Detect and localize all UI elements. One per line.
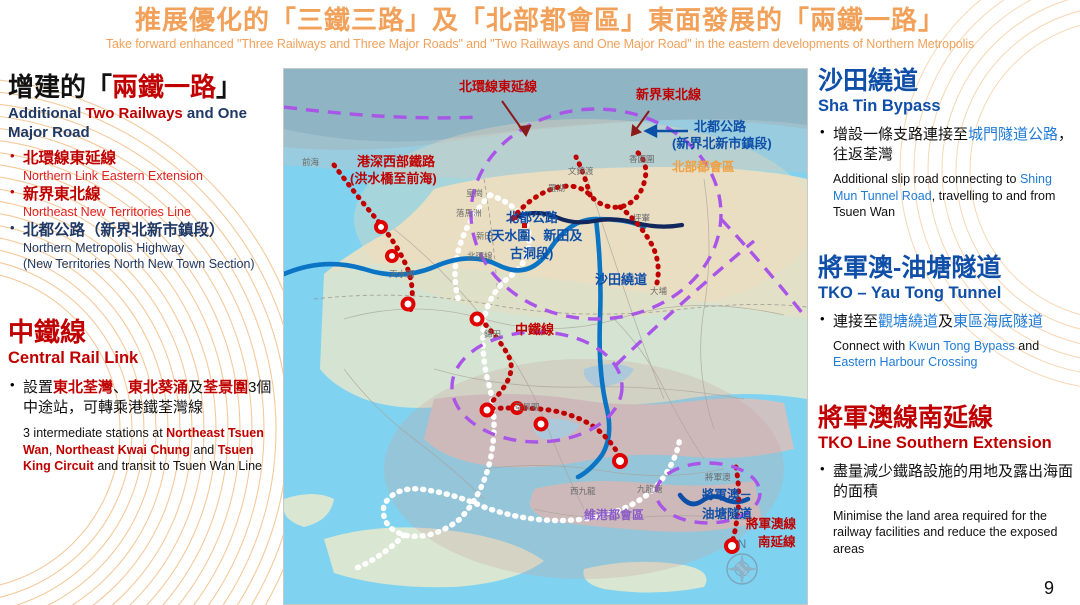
tyt-bullet-zh: 連接至觀塘繞道及東區海底隧道: [833, 312, 1076, 332]
crl-zh-3: 東北葵涌: [128, 379, 188, 396]
crl-paragraph-en: 3 intermediate stations at Northeast Tsu…: [23, 425, 280, 475]
list-item: 設置東北荃灣、東北葵涌及荃景圍3個中途站，可轉乘港鐵荃灣線 3 intermed…: [8, 378, 280, 475]
right-block-tko-yau-tong: 將軍澳-油塘隧道 TKO – Yau Tong Tunnel 連接至觀塘繞道及東…: [818, 253, 1076, 371]
map-route-label: (新界北新市鎮段): [672, 136, 772, 151]
map-place-label: 北環線: [467, 251, 493, 261]
map-place-label: 天水圍: [389, 269, 415, 279]
map-place-label: 羅湖: [548, 183, 565, 193]
tko-south-list: 盡量減少鐵路設施的用地及露出海面的面積 Minimise the land ar…: [818, 462, 1076, 558]
title-chinese: 推展優化的「三鐵三路」及「北部都會區」東面發展的「兩鐵一路」: [0, 4, 1080, 36]
tyt-en-2: and: [1015, 339, 1039, 353]
map-route-label: 港深西部鐵路: [357, 154, 436, 169]
sha-tin-bypass-title-zh: 沙田繞道: [818, 66, 1076, 96]
map-place-label: 落馬洲: [456, 208, 482, 218]
crl-en-2: ,: [49, 443, 56, 457]
map-route-label: 油塘隧道: [702, 506, 753, 521]
page-number: 9: [1044, 578, 1054, 599]
map-route-label: 沙田繞道: [595, 272, 647, 287]
map-place-label: 坪輋: [633, 213, 651, 223]
map-svg: N 前海皇崗落馬洲文錦渡羅湖香園圍天水圍新田北環線錦田大埔坪輋荃景圍西九龍九龍塘…: [284, 69, 807, 604]
map-place-label: 將軍澳: [705, 472, 731, 482]
map-place-label: 皇崗: [466, 188, 483, 198]
map-place-label: 前海: [302, 157, 320, 167]
crl-en-4: and: [190, 443, 218, 457]
tko-yau-tong-title-zh: 將軍澳-油塘隧道: [818, 253, 1076, 283]
left-block1-heading-en: Additional Two Railways and One Major Ro…: [8, 104, 280, 142]
right-text-column: 沙田繞道 Sha Tin Bypass 增設一條支路連接至城門隧道公路，往返荃灣…: [818, 66, 1076, 559]
crl-bullet-zh: 設置東北荃灣、東北葵涌及荃景圍3個中途站，可轉乘港鐵荃灣線: [23, 378, 280, 418]
stb-bullet-zh: 增設一條支路連接至城門隧道公路，往返荃灣: [833, 125, 1076, 165]
map-figure: N 前海皇崗落馬洲文錦渡羅湖香園圍天水圍新田北環線錦田大埔坪輋荃景圍西九龍九龍塘…: [283, 68, 808, 605]
map-place-label: 文錦渡: [568, 166, 594, 176]
left-block-two-railways: 增建的「兩鐵一路」 Additional Two Railways and On…: [8, 72, 280, 272]
map-route-label: (洪水橋至前海): [350, 171, 437, 186]
item-label-en: Northern Metropolis Highway: [23, 240, 280, 256]
sha-tin-bypass-title-en: Sha Tin Bypass: [818, 96, 1076, 117]
compass-north-label: N: [738, 537, 747, 551]
right-block-sha-tin-bypass: 沙田繞道 Sha Tin Bypass 增設一條支路連接至城門隧道公路，往返荃灣…: [818, 66, 1076, 221]
left-block1-heading-zh: 增建的「兩鐵一路」: [8, 72, 280, 103]
tyt-zh-3: 東區海底隧道: [953, 313, 1043, 330]
heading-zh-part-a: 增建的「: [8, 72, 112, 102]
item-label-en: Northeast New Territories Line: [23, 204, 280, 220]
map-route-label: 北都公路: [694, 119, 747, 134]
list-item: 北環線東延線 Northern Link Eastern Extension: [8, 149, 280, 184]
list-item: 新界東北線 Northeast New Territories Line: [8, 185, 280, 220]
map-route-label: 新界東北線: [636, 87, 702, 102]
tyt-en-0: Connect with: [833, 339, 909, 353]
slide-title: 推展優化的「三鐵三路」及「北部都會區」東面發展的「兩鐵一路」 Take forw…: [0, 4, 1080, 53]
title-english: Take forward enhanced "Three Railways an…: [0, 36, 1080, 53]
map-place-label: 香園圍: [629, 154, 655, 164]
map-place-label: 錦田: [484, 329, 501, 339]
list-item: 連接至觀塘繞道及東區海底隧道 Connect with Kwun Tong By…: [818, 312, 1076, 371]
tyt-zh-2: 及: [938, 313, 953, 330]
map-route-label: (天水圍、新田及: [487, 228, 583, 243]
stb-en-0: Additional slip road connecting to: [833, 172, 1020, 186]
stb-zh-0: 增設一條支路連接至: [833, 126, 968, 143]
sha-tin-bypass-list: 增設一條支路連接至城門隧道公路，往返荃灣 Additional slip roa…: [818, 125, 1076, 221]
map-place-label: 西九龍: [570, 486, 596, 496]
heading-en-part-a: Additional: [8, 105, 86, 122]
crl-en-3: Northeast Kwai Chung: [56, 443, 190, 457]
stb-paragraph-en: Additional slip road connecting to Shing…: [833, 171, 1076, 221]
list-item: 增設一條支路連接至城門隧道公路，往返荃灣 Additional slip roa…: [818, 125, 1076, 221]
tkos-bullet-zh: 盡量減少鐵路設施的用地及露出海面的面積: [833, 462, 1076, 502]
map-route-label: 古洞段): [510, 246, 553, 261]
heading-zh-part-c: 」: [216, 72, 242, 102]
tko-yau-tong-title-en: TKO – Yau Tong Tunnel: [818, 283, 1076, 304]
list-item: 盡量減少鐵路設施的用地及露出海面的面積 Minimise the land ar…: [818, 462, 1076, 558]
item-label-zh: 新界東北線: [23, 185, 280, 204]
map-route-label: 北部都會區: [672, 159, 735, 174]
map-route-label: 南延線: [758, 534, 796, 549]
heading-zh-part-b: 兩鐵一路: [112, 72, 216, 102]
left-block1-list: 北環線東延線 Northern Link Eastern Extension 新…: [8, 149, 280, 272]
crl-en-6: and transit to Tsuen Wan Line: [94, 459, 262, 473]
central-rail-link-list: 設置東北荃灣、東北葵涌及荃景圍3個中途站，可轉乘港鐵荃灣線 3 intermed…: [8, 378, 280, 475]
crl-zh-5: 荃景圍: [203, 379, 248, 396]
map-place-label: 大埔: [650, 286, 668, 296]
crl-zh-0: 設置: [23, 379, 53, 396]
item-label-en: Northern Link Eastern Extension: [23, 168, 280, 184]
crl-zh-1: 東北荃灣: [53, 379, 113, 396]
crl-zh-2: 、: [113, 379, 128, 396]
heading-en-part-b: Two Railways: [86, 105, 183, 122]
tko-yau-tong-list: 連接至觀塘繞道及東區海底隧道 Connect with Kwun Tong By…: [818, 312, 1076, 371]
tko-south-title-zh: 將軍澳線南延線: [818, 403, 1076, 433]
item-label-en-2: (New Territories North New Town Section): [23, 256, 280, 272]
tyt-zh-1: 觀塘繞道: [878, 313, 938, 330]
map-place-label: 荃景圍: [514, 402, 540, 412]
item-label-zh: 北環線東延線: [23, 149, 280, 168]
tyt-zh-0: 連接至: [833, 313, 878, 330]
central-rail-link-title-en: Central Rail Link: [8, 348, 280, 369]
map-route-label: 中鐵線: [515, 322, 555, 337]
tkos-paragraph-en: Minimise the land area required for the …: [833, 508, 1076, 558]
item-label-zh: 北都公路（新界北新市鎮段）: [23, 221, 280, 240]
crl-en-0: 3 intermediate stations at: [23, 426, 166, 440]
map-route-label: 將軍澳線: [746, 516, 797, 531]
right-block-tko-southern-extension: 將軍澳線南延線 TKO Line Southern Extension 盡量減少…: [818, 403, 1076, 558]
central-rail-link-title-zh: 中鐵線: [8, 317, 280, 348]
map-route-label: 北環線東延線: [459, 79, 538, 94]
stb-zh-1: 城門隧道公路: [968, 126, 1058, 143]
crl-zh-4: 及: [188, 379, 203, 396]
tyt-en-1: Kwun Tong Bypass: [909, 339, 1015, 353]
map-route-label: 將軍澳－: [702, 487, 752, 502]
map-route-label: 北都公路: [506, 210, 559, 225]
tko-south-title-en: TKO Line Southern Extension: [818, 433, 1076, 454]
map-route-label: 維港都會區: [584, 507, 644, 522]
tyt-paragraph-en: Connect with Kwun Tong Bypass and Easter…: [833, 338, 1076, 371]
left-block-central-rail-link: 中鐵線 Central Rail Link 設置東北荃灣、東北葵涌及荃景圍3個中…: [8, 317, 280, 475]
tyt-en-3: Eastern Harbour Crossing: [833, 355, 978, 369]
left-text-column: 增建的「兩鐵一路」 Additional Two Railways and On…: [8, 72, 280, 477]
map-place-label: 九龍塘: [637, 484, 663, 494]
list-item: 北都公路（新界北新市鎮段） Northern Metropolis Highwa…: [8, 221, 280, 272]
